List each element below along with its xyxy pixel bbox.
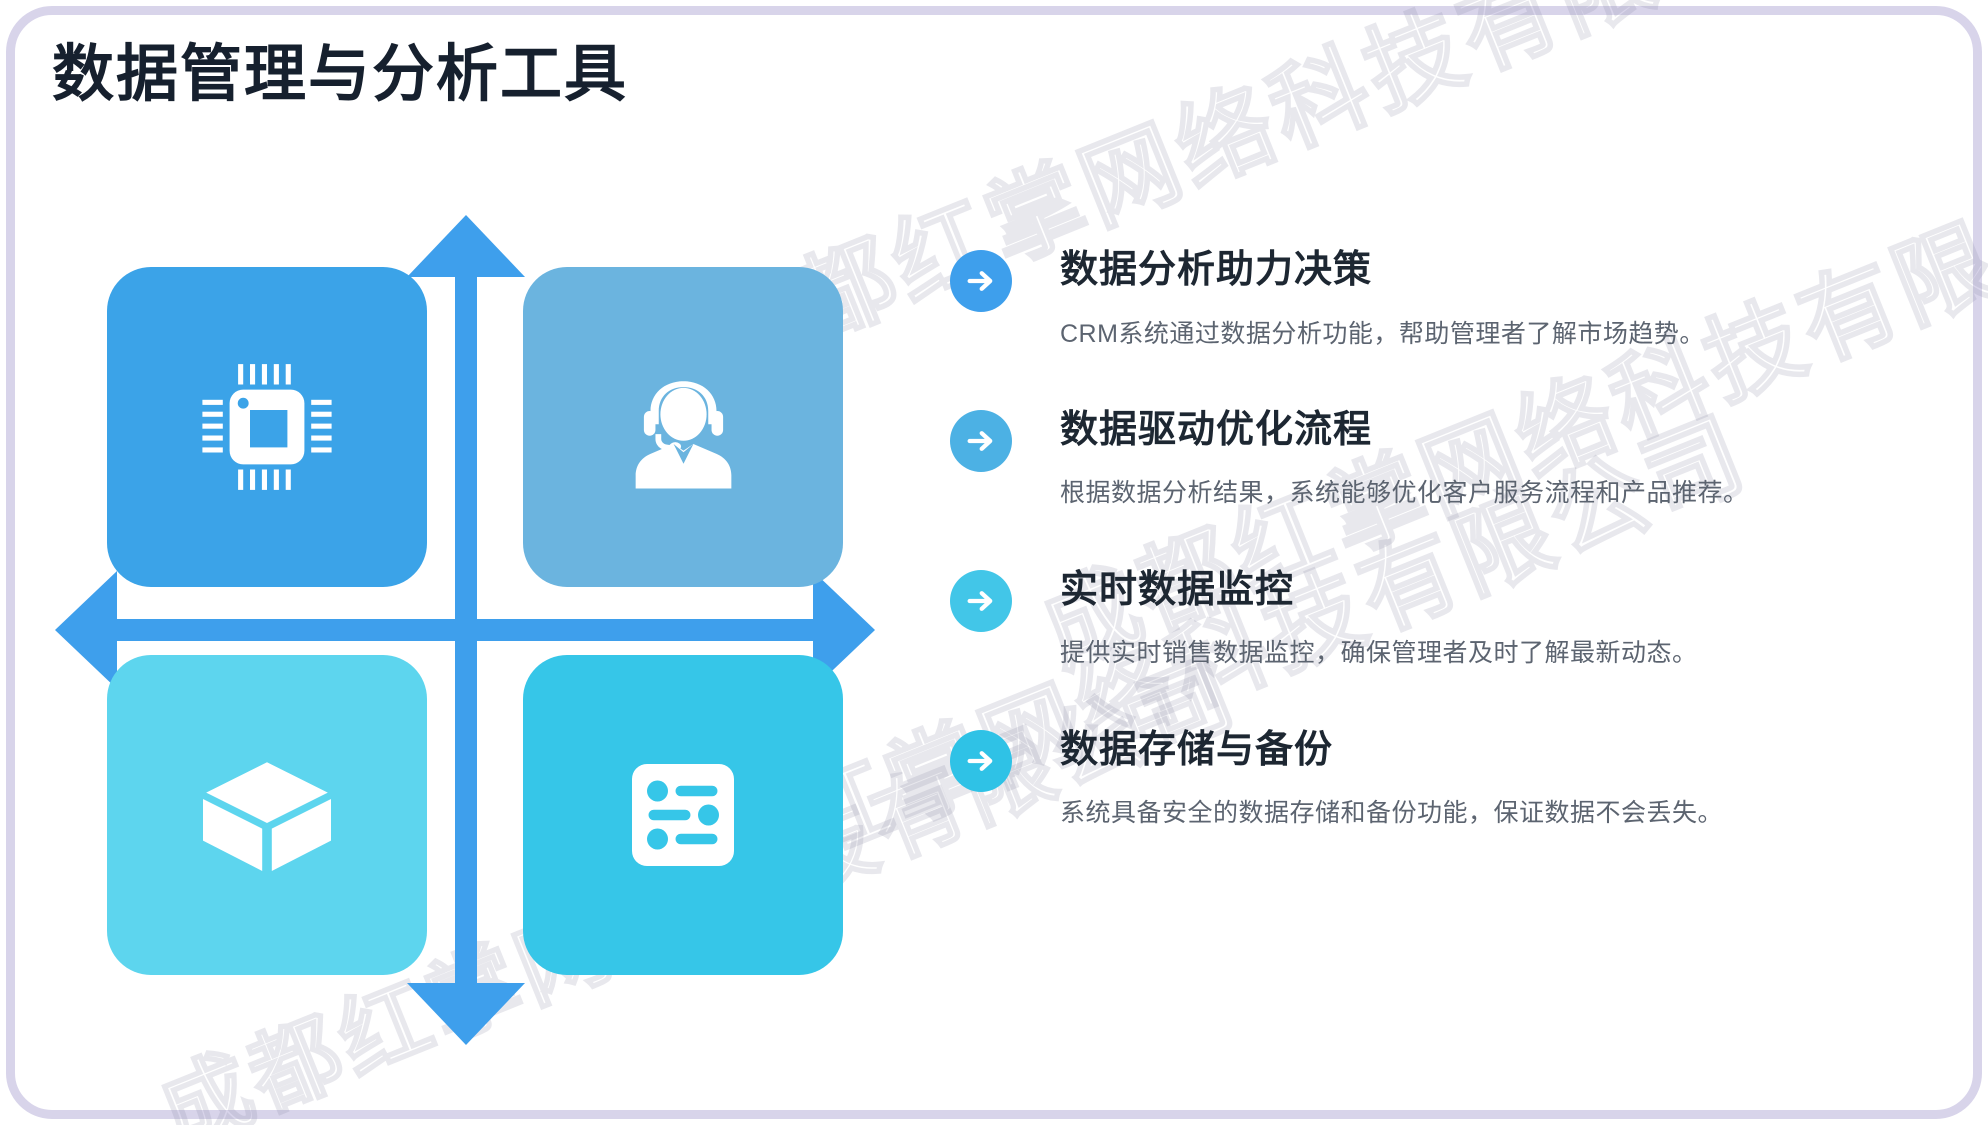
feature-description: 提供实时销售数据监控，确保管理者及时了解最新动态。 [1060, 635, 1920, 671]
support-agent-icon [601, 345, 766, 510]
feature-item[interactable]: 实时数据监控 提供实时销售数据监控，确保管理者及时了解最新动态。 [950, 568, 1920, 672]
cube-box-icon [187, 735, 347, 895]
slide-canvas: 成都红掌网络科技有限公司 成都红掌网络科技有限公司 成都红掌网络科技有限公司 成… [0, 0, 1988, 1125]
settings-list-icon [608, 740, 758, 890]
feature-body: 数据存储与备份 系统具备安全的数据存储和备份功能，保证数据不会丢失。 [1060, 728, 1920, 832]
feature-title: 实时数据监控 [1060, 568, 1920, 614]
feature-item[interactable]: 数据存储与备份 系统具备安全的数据存储和备份功能，保证数据不会丢失。 [950, 728, 1920, 832]
feature-body: 数据驱动优化流程 根据数据分析结果，系统能够优化客户服务流程和产品推荐。 [1060, 408, 1920, 512]
cpu-chip-icon [182, 342, 352, 512]
feature-description: CRM系统通过数据分析功能，帮助管理者了解市场趋势。 [1060, 316, 1920, 352]
arrow-right-circle-icon[interactable] [950, 570, 1012, 632]
arrow-right-glyph [964, 584, 998, 618]
feature-body: 实时数据监控 提供实时销售数据监控，确保管理者及时了解最新动态。 [1060, 568, 1920, 672]
arrow-right-circle-icon[interactable] [950, 250, 1012, 312]
arrow-right-circle-icon[interactable] [950, 410, 1012, 472]
feature-description: 根据数据分析结果，系统能够优化客户服务流程和产品推荐。 [1060, 475, 1920, 511]
feature-title: 数据分析助力决策 [1060, 248, 1920, 294]
feature-description: 系统具备安全的数据存储和备份功能，保证数据不会丢失。 [1060, 795, 1920, 831]
arrow-right-glyph [964, 744, 998, 778]
arrow-right-glyph [964, 264, 998, 298]
quadrant-diagram [55, 215, 895, 1045]
feature-title: 数据驱动优化流程 [1060, 408, 1920, 454]
quadrant-top-right[interactable] [523, 267, 843, 587]
quadrant-bottom-left[interactable] [107, 655, 427, 975]
quadrant-top-left[interactable] [107, 267, 427, 587]
page-title: 数据管理与分析工具 [52, 36, 628, 114]
arrow-right-circle-icon[interactable] [950, 730, 1012, 792]
feature-item[interactable]: 数据驱动优化流程 根据数据分析结果，系统能够优化客户服务流程和产品推荐。 [950, 408, 1920, 512]
feature-list: 数据分析助力决策 CRM系统通过数据分析功能，帮助管理者了解市场趋势。 数据驱动… [950, 248, 1920, 831]
quadrant-bottom-right[interactable] [523, 655, 843, 975]
arrow-right-glyph [964, 424, 998, 458]
feature-item[interactable]: 数据分析助力决策 CRM系统通过数据分析功能，帮助管理者了解市场趋势。 [950, 248, 1920, 352]
feature-title: 数据存储与备份 [1060, 728, 1920, 774]
feature-body: 数据分析助力决策 CRM系统通过数据分析功能，帮助管理者了解市场趋势。 [1060, 248, 1920, 352]
